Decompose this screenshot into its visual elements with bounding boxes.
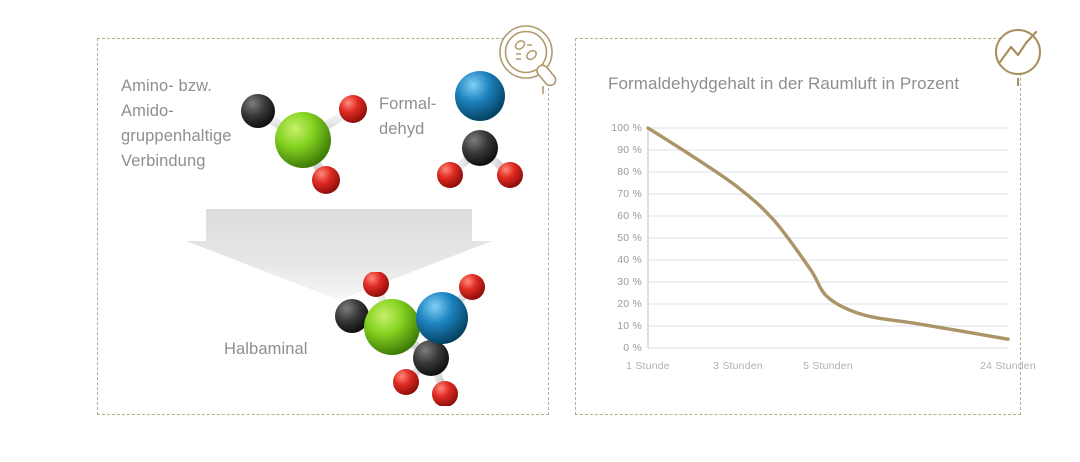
line-chart-svg [600, 120, 1010, 380]
x-axis-tick-label: 5 Stunden [803, 360, 853, 372]
halbaminal-molecule [324, 272, 508, 406]
x-axis-tick-label: 3 Stunden [713, 360, 763, 372]
series-line [648, 128, 1008, 339]
trend-chart-circle-icon [988, 22, 1058, 92]
chart-title: Formaldehydgehalt in der Raumluft in Pro… [608, 74, 959, 94]
magnifier-molecule-icon [496, 22, 572, 98]
x-axis-labels: 1 Stunde3 Stunden5 Stunden24 Stunden [600, 360, 1010, 380]
chart-plot-area: 100 %90 %80 %70 %60 %50 %40 %30 %20 %10 … [600, 120, 1010, 380]
x-axis-tick-label: 1 Stunde [626, 360, 670, 372]
x-axis-tick-label: 24 Stunden [980, 360, 1036, 372]
amino-compound-molecule [240, 82, 370, 194]
